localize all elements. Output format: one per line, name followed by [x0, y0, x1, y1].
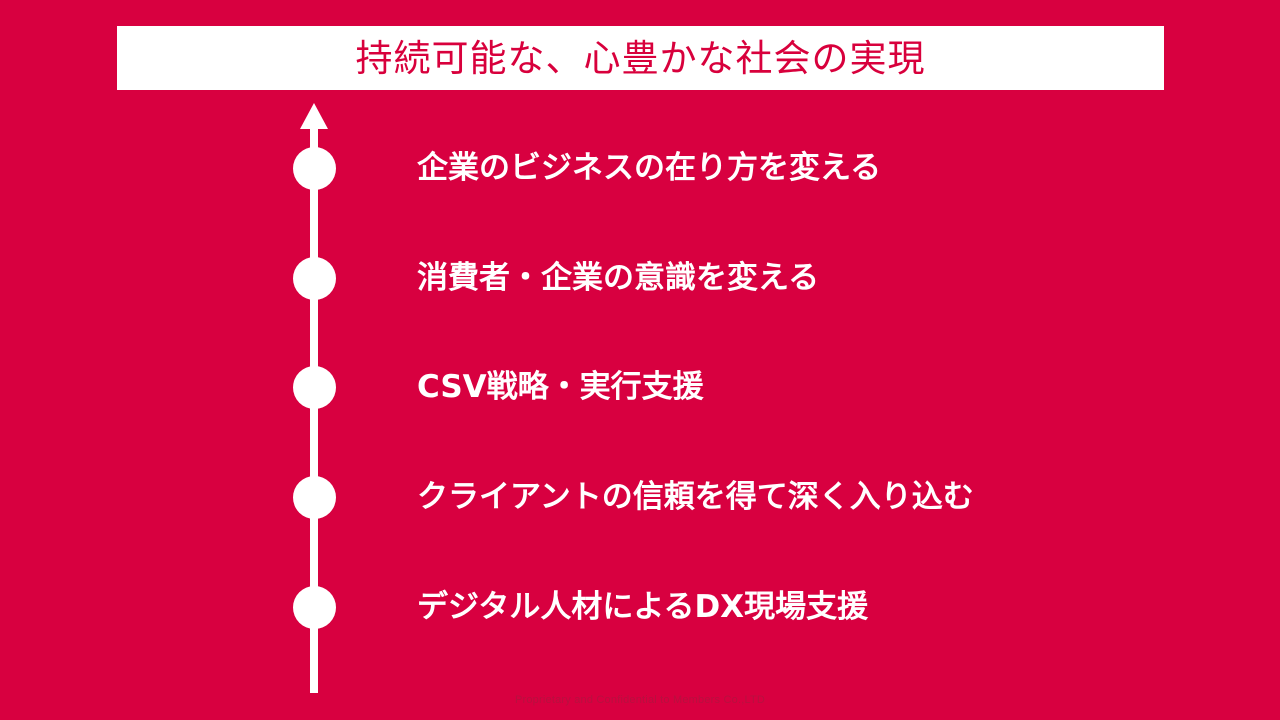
timeline-item-label: クライアントの信頼を得て深く入り込む: [417, 476, 974, 519]
timeline-dot-icon: [293, 257, 336, 300]
timeline-item-5: デジタル人材によるDX現場支援: [0, 586, 1280, 630]
slide-title-banner: 持続可能な、心豊かな社会の実現: [117, 26, 1164, 90]
timeline-item-label: 消費者・企業の意識を変える: [417, 257, 819, 300]
timeline-item-label: 企業のビジネスの在り方を変える: [417, 147, 881, 190]
timeline-item-label: デジタル人材によるDX現場支援: [417, 586, 868, 629]
timeline-item-2: 消費者・企業の意識を変える: [0, 257, 1280, 301]
timeline-item-label: CSV戦略・実行支援: [417, 366, 704, 409]
timeline-dot-icon: [293, 476, 336, 519]
timeline-item-1: 企業のビジネスの在り方を変える: [0, 147, 1280, 191]
page-title: 持続可能な、心豊かな社会の実現: [356, 40, 926, 77]
timeline-item-3: CSV戦略・実行支援: [0, 366, 1280, 410]
timeline-dot-icon: [293, 586, 336, 629]
timeline-dot-icon: [293, 147, 336, 190]
footer-confidentiality-notice: Proprietary and Confidential to Members …: [0, 694, 1280, 706]
timeline-dot-icon: [293, 366, 336, 409]
timeline-item-4: クライアントの信頼を得て深く入り込む: [0, 476, 1280, 520]
slide-canvas: 持続可能な、心豊かな社会の実現 企業のビジネスの在り方を変える 消費者・企業の意…: [0, 0, 1280, 720]
